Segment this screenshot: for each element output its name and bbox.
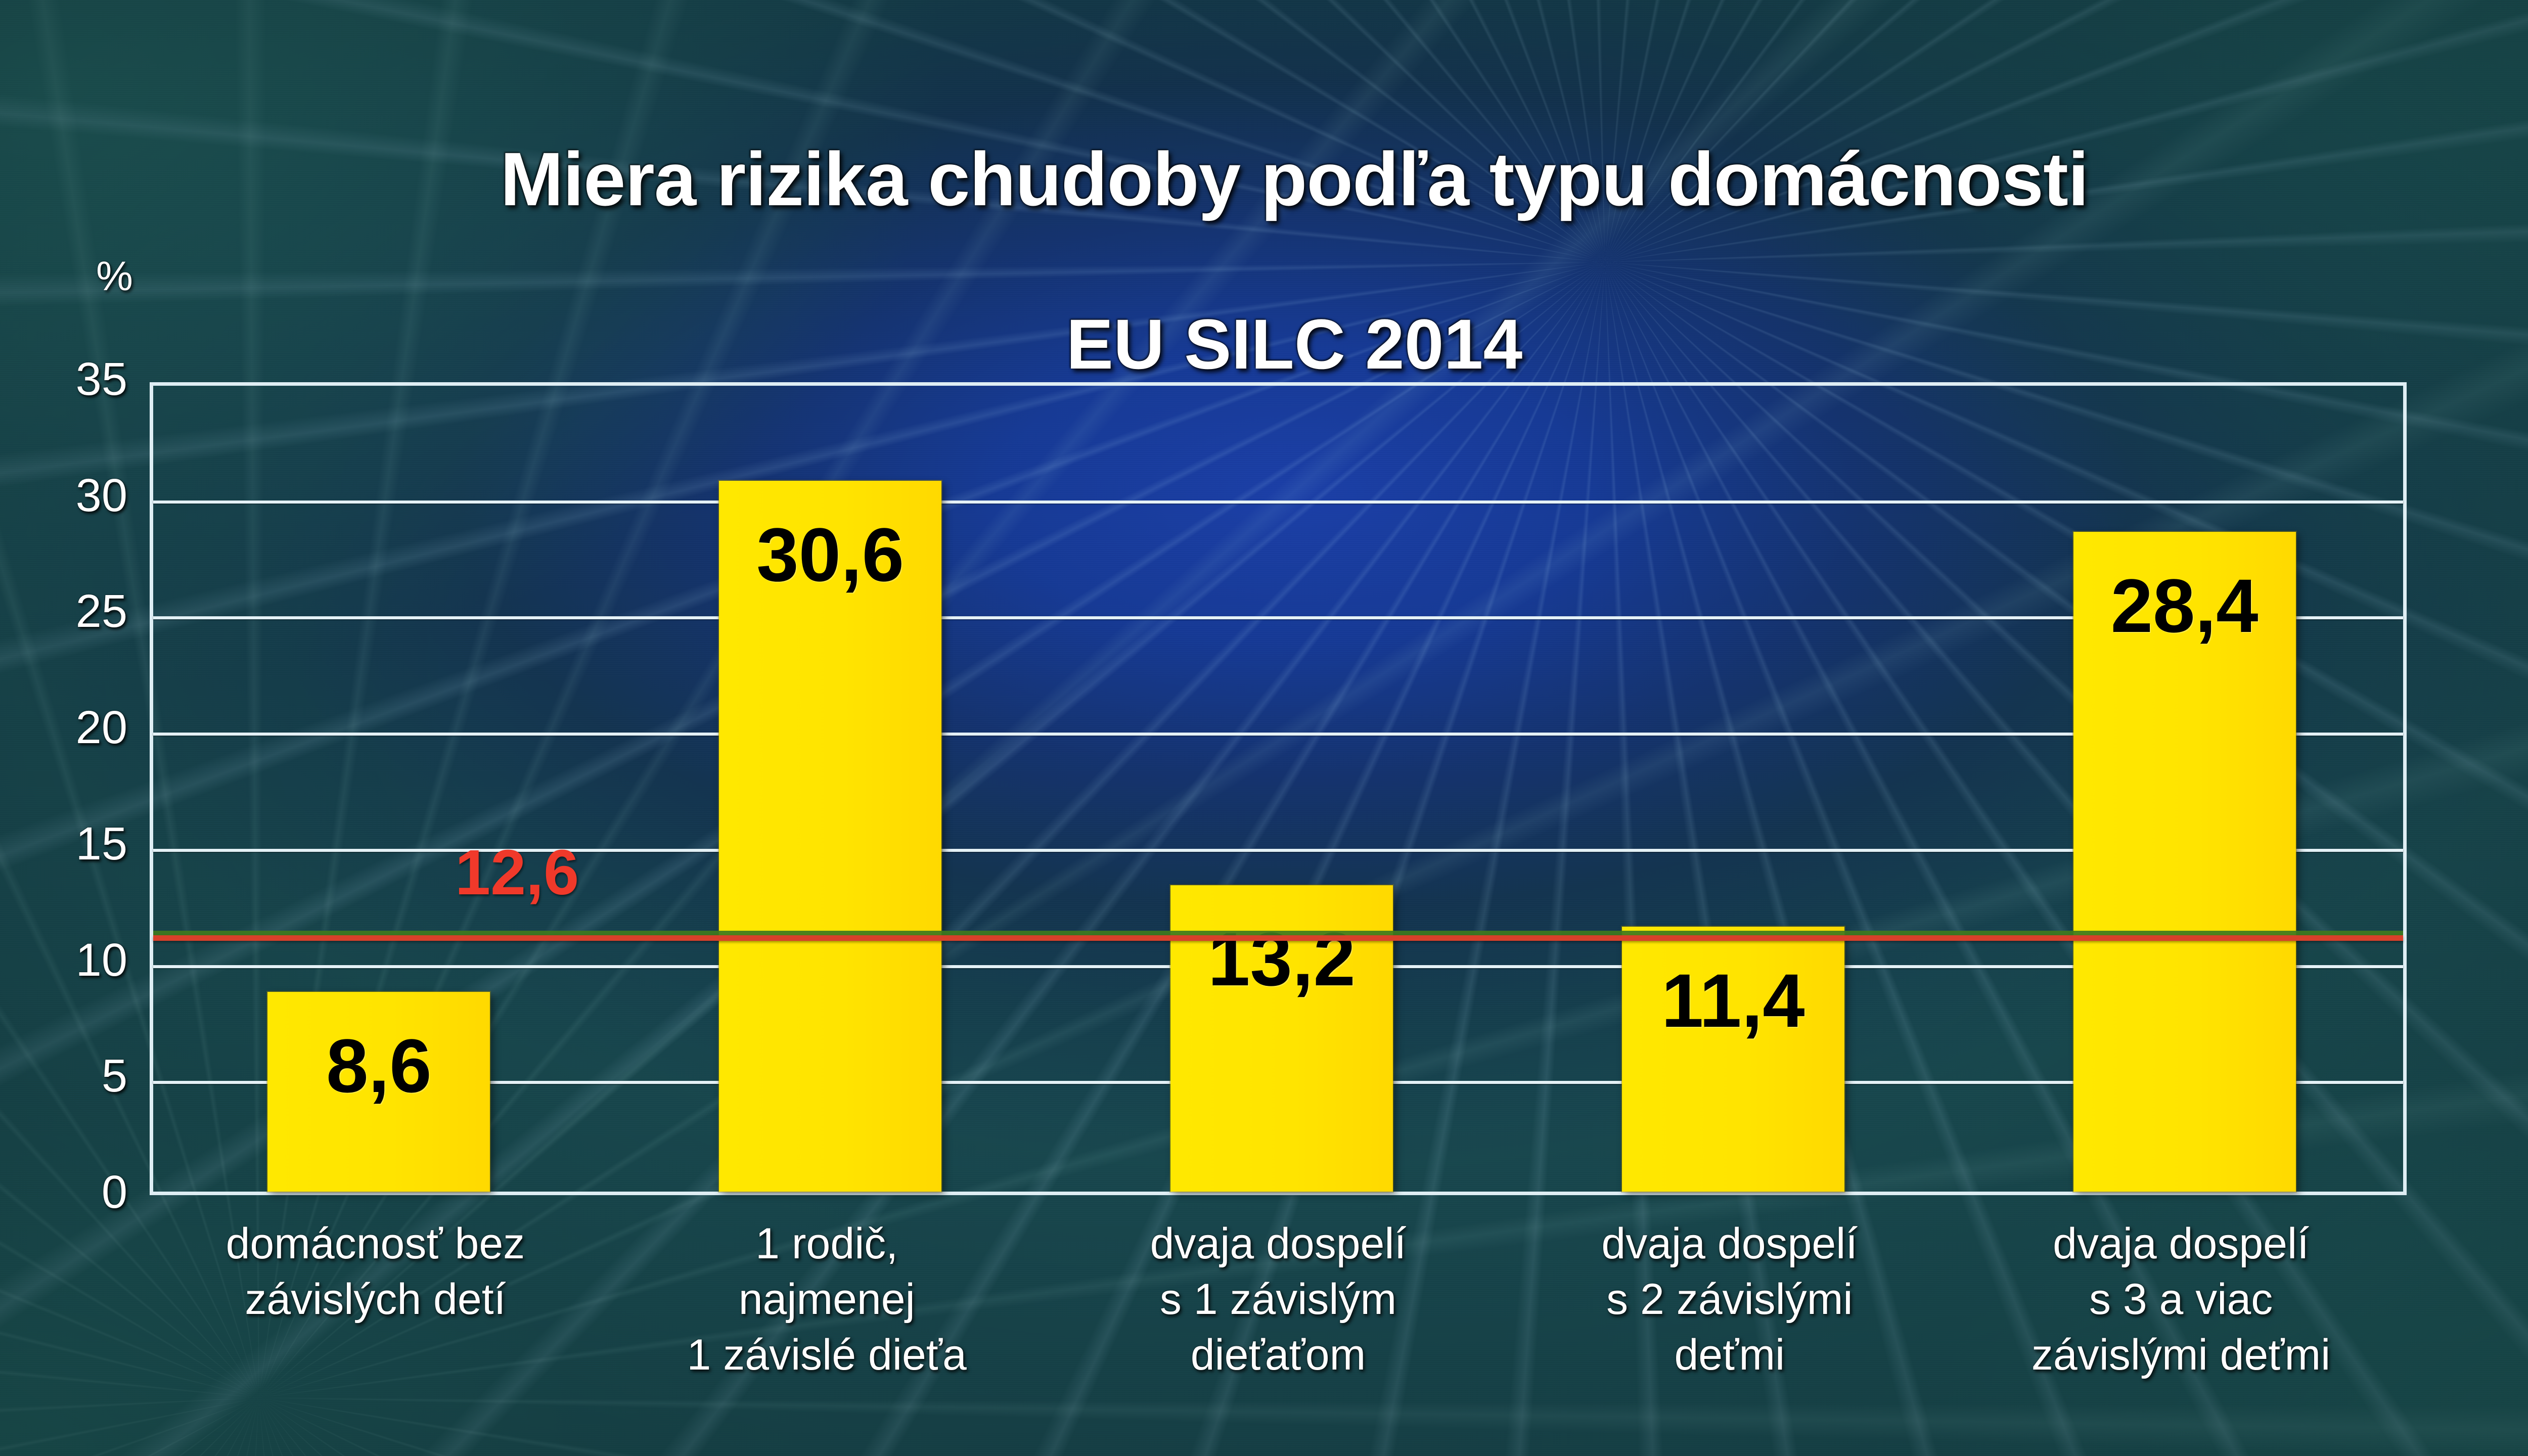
bar-value-label: 11,4 (1602, 957, 1865, 1044)
x-axis-label-line: s 1 závislým (1043, 1271, 1514, 1327)
chart-screen: Miera rizika chudoby podľa typu domácnos… (0, 0, 2528, 1456)
chart-title: Miera rizika chudoby podľa typu domácnos… (0, 135, 2528, 223)
gridline (153, 733, 2403, 736)
x-axis-label-line: 1 rodič, (591, 1216, 1063, 1271)
reference-line-green (153, 931, 2403, 935)
y-axis-tick-label: 15 (20, 821, 127, 867)
y-axis-tick-label: 0 (20, 1169, 127, 1215)
chart-subtitle: EU SILC 2014 (0, 303, 2528, 385)
bar-value-label: 13,2 (1150, 916, 1413, 1003)
y-axis-tick-label: 35 (20, 356, 127, 402)
x-axis-category-label: dvaja dospelís 3 a viaczávislými deťmi (1945, 1216, 2417, 1383)
x-axis-label-line: domácnosť bez (140, 1216, 611, 1271)
plot-area: 8,630,613,211,428,4 (150, 382, 2407, 1195)
x-axis-label-line: 1 závislé dieťa (591, 1327, 1063, 1383)
y-axis-tick-label: 5 (20, 1053, 127, 1099)
x-axis-label-line: dvaja dospelí (1945, 1216, 2417, 1271)
x-axis-label-line: dieťaťom (1043, 1327, 1514, 1383)
x-axis-label-line: s 3 a viac (1945, 1271, 2417, 1327)
x-axis-label-line: dvaja dospelí (1043, 1216, 1514, 1271)
y-axis-tick-label: 20 (20, 704, 127, 751)
x-axis-category-label: domácnosť bezzávislých detí (140, 1216, 611, 1327)
x-axis-label-line: najmenej (591, 1271, 1063, 1327)
bar-value-label: 8,6 (247, 1022, 510, 1110)
bar-value-label: 30,6 (699, 511, 962, 599)
y-axis-tick-label: 30 (20, 472, 127, 519)
x-axis-label-line: závislými deťmi (1945, 1327, 2417, 1383)
bar-value-label: 28,4 (2053, 562, 2316, 650)
x-axis-label-line: s 2 závislými (1494, 1271, 1965, 1327)
reference-value-label: 12,6 (455, 836, 579, 909)
x-axis-category-label: dvaja dospelís 1 závislýmdieťaťom (1043, 1216, 1514, 1383)
x-axis-label-line: dvaja dospelí (1494, 1216, 1965, 1271)
gridline (153, 500, 2403, 504)
y-axis-tick-label: 10 (20, 937, 127, 983)
reference-line-red (153, 935, 2403, 941)
x-axis-label-line: závislých detí (140, 1271, 611, 1327)
x-axis-category-label: 1 rodič,najmenej1 závislé dieťa (591, 1216, 1063, 1383)
x-axis-category-label: dvaja dospelís 2 závislýmideťmi (1494, 1216, 1965, 1383)
x-axis-label-line: deťmi (1494, 1327, 1965, 1383)
y-axis-unit-label: % (96, 253, 133, 300)
y-axis-tick-label: 25 (20, 588, 127, 634)
